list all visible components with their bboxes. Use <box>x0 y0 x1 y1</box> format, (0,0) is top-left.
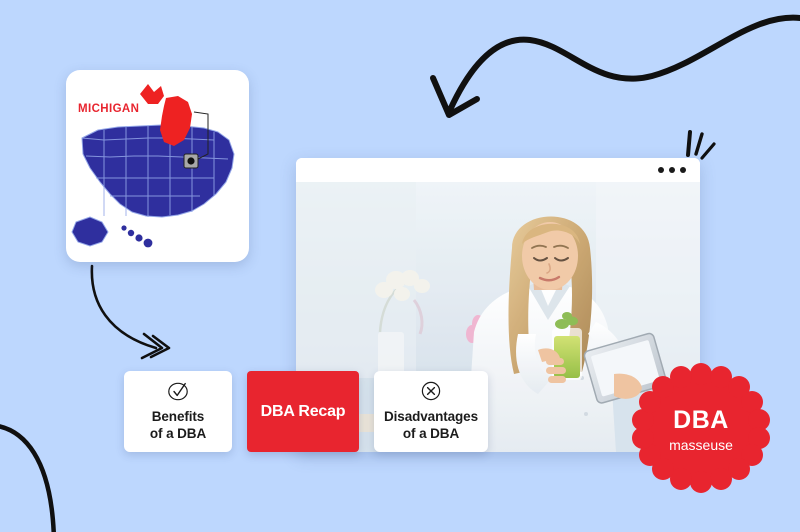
curved-arrow-down-left-icon <box>420 10 800 145</box>
michigan-label: MICHIGAN <box>78 103 139 115</box>
starburst-shape-icon: DBA masseuse <box>628 362 774 494</box>
curved-line-icon <box>0 415 100 532</box>
circled-check-icon <box>166 379 190 403</box>
card-disadvantages[interactable]: Disadvantages of a DBA <box>374 371 488 452</box>
three-dots-icon[interactable] <box>658 167 686 173</box>
browser-titlebar <box>296 158 700 182</box>
card-benefits[interactable]: Benefits of a DBA <box>124 371 232 452</box>
poster-canvas: MICHIGAN <box>0 0 800 532</box>
michigan-map-card: MICHIGAN <box>66 70 249 262</box>
dba-masseuse-badge: DBA masseuse <box>628 362 774 494</box>
badge-title: DBA <box>673 406 729 434</box>
us-map-graphic: MICHIGAN <box>66 70 249 262</box>
card-recap-label: DBA Recap <box>261 403 346 421</box>
curved-arrow-right-icon <box>80 262 205 367</box>
badge-subtitle: masseuse <box>669 437 733 453</box>
card-disadvantages-label: Disadvantages of a DBA <box>384 408 478 443</box>
card-benefits-label: Benefits of a DBA <box>150 408 206 443</box>
card-recap[interactable]: DBA Recap <box>247 371 359 452</box>
circled-x-icon <box>419 379 443 403</box>
